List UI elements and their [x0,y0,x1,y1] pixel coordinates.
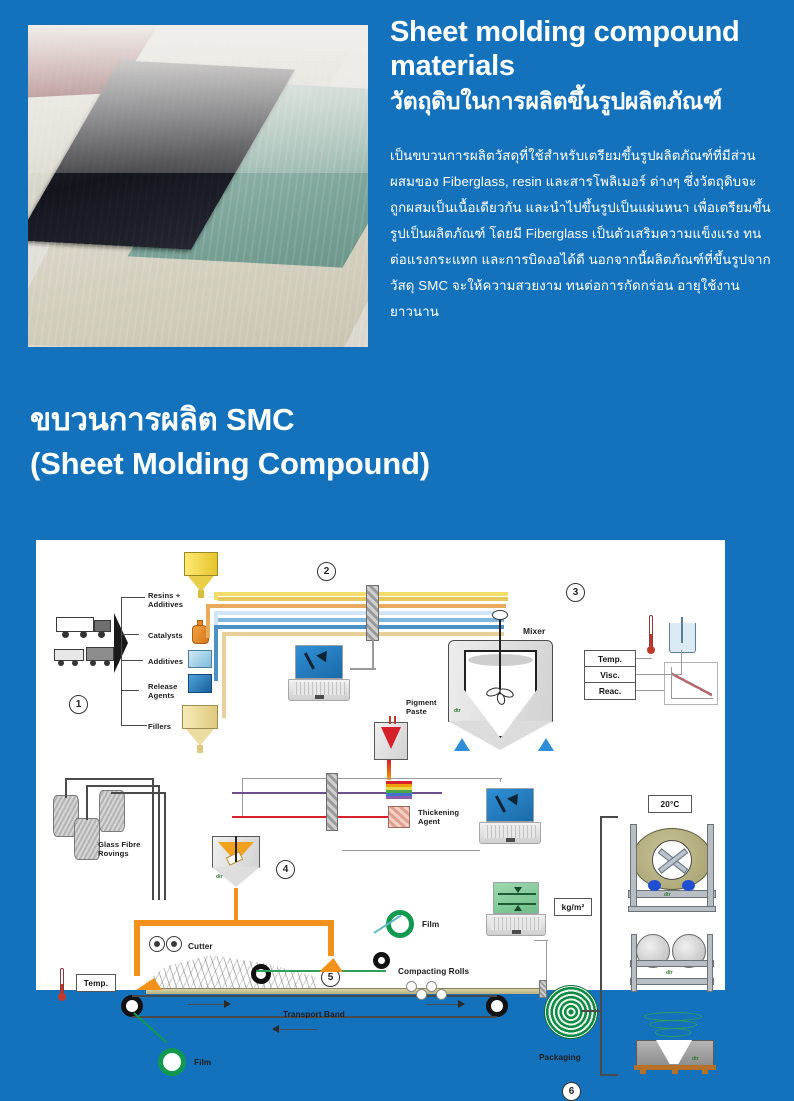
mixer-shaft-wheel [492,610,508,620]
band-arrow-1-line [188,1004,224,1005]
smc-sheet-stack-photo [28,25,368,347]
laptop-screen-3 [493,882,539,914]
label-glass-fibre-rovings: Glass Fibre Rovings [98,840,140,858]
reactivity-chart-icon [664,662,718,705]
maturation-twin-roll-unit: dtr [628,932,716,996]
laptop-screen [295,645,343,679]
maturation-frame-leg-l [630,824,637,908]
bracket-arm-4 [121,690,139,691]
laptop-cable-2 [342,850,480,851]
photo-texture-overlay [28,25,368,347]
monitor-row-reac: Reac. [585,683,635,699]
bracket-arm-5 [121,725,147,726]
roving-line-2h [86,785,159,787]
band-arrow-1-head [224,1000,231,1008]
control-laptop-1[interactable] [288,645,350,703]
hero-section: Sheet molding compound materials วัตถุดิ… [0,0,794,375]
conveyor-roller-right [486,995,508,1017]
laptop-trackpad [315,695,324,699]
section-heading-line2: (Sheet Molding Compound) [30,442,730,486]
label-additives: Additives [148,657,183,666]
maturation-bracket-top [600,816,618,818]
laptop-keyboard-2 [484,825,536,838]
orange-frame-right [328,920,334,956]
mixer-brand-mark: dtr [454,708,461,714]
additive-sack-icon [188,650,212,668]
pipe-red-thickener [232,816,402,818]
mould-foot-3 [702,1069,708,1074]
maturation-roller-blue-l [648,880,661,891]
laptop-base-2 [479,822,541,844]
thermometer-bulb-2 [58,993,66,1001]
step-marker-6: 6 [562,1082,581,1101]
smc-sheet-on-band [146,988,546,994]
label-thickening-agent: Thickening Agent [418,808,459,826]
pipe-catalyst-orange [206,604,506,608]
process-diagram: 1 Resins + Additives Catalysts Additives… [36,540,725,990]
label-mixer: Mixer [523,626,545,636]
step-marker-1: 1 [69,695,88,714]
maturation-bracket-mid [581,1010,601,1012]
twin-roll-leg-r [707,934,713,992]
moulding-press-unit: dtr [632,1012,718,1074]
maturation-frame-foot [628,906,716,912]
laptop-trackpad-3 [512,930,521,934]
riser-orange [206,604,210,638]
label-transport-band: Transport Band [283,1010,345,1020]
pigment-paste-vessel-icon [374,722,408,760]
mixer-impeller [486,688,516,704]
page-title-th: วัตถุดิบในการผลิตขึ้นรูปผลิตภัณฑ์ [390,87,772,117]
step-marker-4: 4 [276,860,295,879]
step4-feed-h [242,778,502,779]
roving-line-3h [111,792,165,794]
conveyor-roller-left [121,995,143,1017]
compacting-roll-2 [416,989,427,1000]
laptop-screen-2 [486,788,534,822]
process-diagram-panel: 1 Resins + Additives Catalysts Additives… [36,540,725,990]
riser-cream [222,632,226,718]
label-catalysts: Catalysts [148,631,183,640]
orange-frame-top [134,920,334,926]
roving-line-1h [65,778,153,780]
section-heading-line1: ขบวนการผลิต SMC [30,398,730,442]
laptop-keyboard-3 [491,917,541,930]
pigment-outlet-pipe [387,760,391,780]
control-laptop-2[interactable] [479,788,541,846]
release-agent-sack-icon [188,674,212,693]
mould-foot-1 [640,1069,646,1074]
mixer-support-triangle-left [454,738,470,751]
bracket-arm-1 [121,597,145,598]
label-pigment-paste: Pigment Paste [406,698,437,716]
roving-line-1 [65,778,67,798]
laptop-cable-1b [372,640,374,669]
roving-down-3 [164,792,166,900]
mixer-support-triangle-right [538,738,554,751]
roving-down-2 [158,785,160,900]
twin-roll-base [630,978,714,985]
temperature-20c-badge: 20°C [648,795,692,813]
pipe-resin-yellow-2 [218,597,508,601]
band-return-arrow-head [272,1025,279,1033]
step4-feed-v [242,778,243,816]
maturation-frame-leg-r [707,824,714,908]
additive-stack-icon [386,781,412,799]
maturation-bracket-bottom [600,1074,618,1076]
train-icon [54,647,116,669]
filler-hopper-icon [182,705,218,753]
conveyor-roller-film-top [373,952,390,969]
truck-icon [56,615,114,641]
bracket-arm-3 [121,660,143,661]
thickening-agent-icon [388,806,410,828]
laptop-base [288,679,350,701]
laptop-base-3 [486,914,546,936]
paste-box-icon: dtr [212,836,260,890]
maturation-frame-base [628,890,716,898]
page-title-en: Sheet molding compound materials [390,16,772,83]
band-wedge-mid [319,958,343,972]
conveyor-roller-mid [251,964,271,984]
band-arrow-2-line [426,1004,458,1005]
monitor-link-visc [636,674,682,675]
mixer-vessel-icon: dtr [448,640,553,750]
maturation-brand-3: dtr [692,1056,699,1062]
monitor-link-visc-v [681,650,682,675]
pipe-filler-cream [222,632,504,636]
packaging-feed-block [539,980,547,998]
glass-fibre-drum-3 [99,790,125,832]
valve-block-icon-2 [326,773,338,831]
film-reel-bottom [158,1048,186,1076]
orange-frame-left [134,920,140,976]
thermometer-icon-2 [60,968,64,996]
monitor-row-temp: Temp. [585,651,635,667]
thermometer-bulb-1 [647,646,655,654]
thermometer-icon-1 [649,615,653,649]
maturation-brand-2: dtr [666,970,673,976]
chopped-fibre-spray [146,952,316,992]
riser-blue [214,625,218,681]
maturation-roller-blue-r [682,880,695,891]
mixer-shaft [499,616,501,698]
band-return-arrow-line [279,1029,317,1030]
beaker-icon [669,623,696,653]
laptop-keyboard [293,682,345,695]
label-compacting-rolls: Compacting Rolls [398,967,469,977]
label-resins-additives: Resins + Additives [148,591,183,609]
label-film-top: Film [422,920,439,930]
riser-yellow [214,592,218,600]
step-marker-3: 3 [566,583,585,602]
pipe-additive-lightblue [214,611,504,615]
label-fillers: Fillers [148,722,171,731]
maturation-brand-1: dtr [664,892,671,898]
label-release-agents: Release Agents [148,682,177,700]
compacting-roll-4 [436,989,447,1000]
twin-roll-bar [630,960,714,967]
maturation-reel-unit: dtr [626,822,718,916]
twin-roll-leg-l [631,934,637,992]
monitor-link-temp [636,658,652,659]
section-heading: ขบวนการผลิต SMC (Sheet Molding Compound) [30,398,730,486]
valve-block-icon [366,585,379,641]
roving-down-1 [152,778,154,900]
laptop-trackpad-2 [506,838,515,842]
roving-line-2 [86,785,88,820]
hero-text-block: Sheet molding compound materials วัตถุดิ… [390,16,772,325]
process-monitor-table: Temp. Visc. Reac. [584,650,636,700]
green-coil-icon [644,1012,702,1042]
maturation-bracket-v [600,816,602,1076]
pipe-resin-yellow [218,592,508,596]
compacting-roll-3 [426,981,437,992]
kg-per-m2-badge: kg/m² [554,898,592,916]
monitor-row-visc: Visc. [585,667,635,683]
weight-monitor-laptop[interactable] [486,882,546,938]
pipe-release-blue-2 [214,625,504,629]
step-marker-2: 2 [317,562,336,581]
label-film-bottom: Film [194,1058,211,1068]
pipe-release-blue [214,618,504,622]
cutter-icon [149,936,183,954]
glass-fibre-drum-2 [74,818,100,860]
bracket-arm-2 [121,634,139,635]
paste-outlet-pipe [234,888,238,920]
label-cutter: Cutter [188,942,213,952]
mould-foot-2 [672,1069,678,1074]
hero-body-text: เป็นขบวนการผลิตวัสดุที่ใช้สำหรับเตรียมขึ… [390,143,772,324]
resin-hopper-icon [184,552,218,598]
temp-badge: Temp. [76,974,116,992]
monitor-link-reac [636,690,664,691]
compacting-roll-1 [406,981,417,992]
band-arrow-2-head [458,1000,465,1008]
weight-monitor-cable-h [534,940,548,941]
label-packaging: Packaging [539,1053,581,1063]
